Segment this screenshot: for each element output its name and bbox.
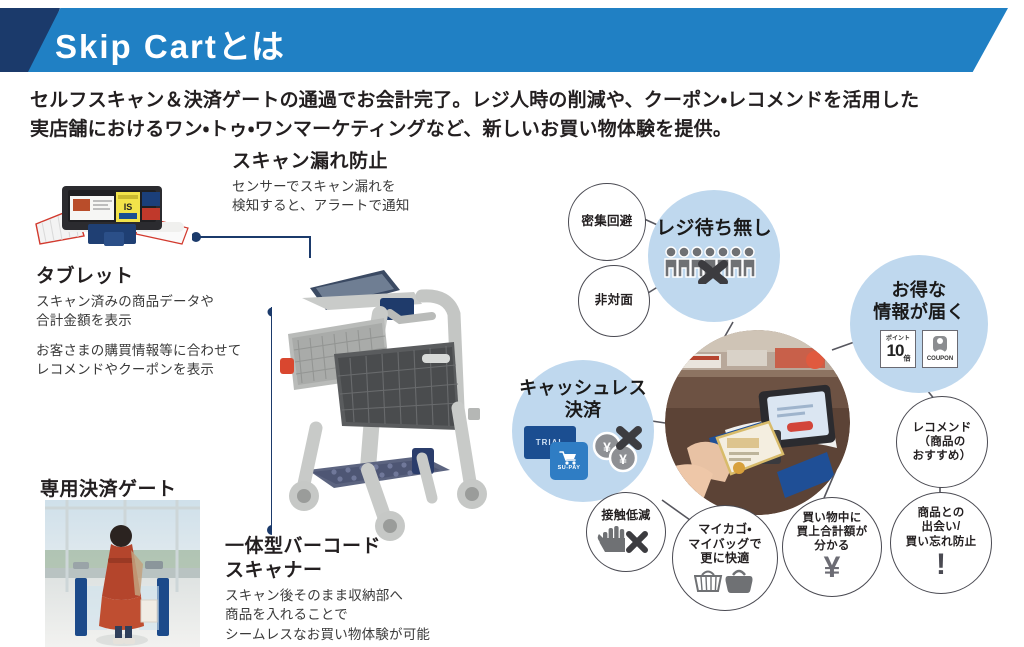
callout-scan-leak: スキャン漏れ防止 センサーでスキャン漏れを 検知すると、アラートで通知 bbox=[232, 150, 472, 216]
coupon-person-glyph bbox=[930, 335, 950, 355]
supay-label: SU-PAY bbox=[558, 465, 581, 471]
scan-leak-body-line1: センサーでスキャン漏れを bbox=[232, 177, 472, 197]
scanner-body-line2: 商品を入れることで bbox=[225, 605, 480, 625]
bubble-deai-kaiwasure[interactable]: 商品との 出会い/ 買い忘れ防止 ! bbox=[890, 492, 992, 594]
basket-icon bbox=[695, 571, 721, 591]
bubble-hitaimen-label: 非対面 bbox=[595, 293, 633, 308]
scanning-photo bbox=[665, 330, 850, 515]
header-banner: Skip Cartとは bbox=[0, 8, 1024, 72]
bubble-recommend-line1: レコメンド bbox=[913, 421, 972, 435]
callout-tablet: タブレット スキャン済みの商品データや 合計金額を表示 お客さまの購買情報等に合… bbox=[36, 265, 286, 380]
eco-bag-icon bbox=[726, 571, 753, 593]
bubble-reji-machi-nashi[interactable]: レジ待ち無し bbox=[648, 190, 780, 322]
smart-cart-photo bbox=[272, 258, 512, 543]
bubble-kaiage-line1: 買い物中に bbox=[797, 511, 868, 525]
bubble-deai-line2: 出会い/ bbox=[906, 520, 977, 534]
bubble-mitsushu-kaihi[interactable]: 密集回避 bbox=[568, 183, 646, 261]
coins-no-cash-icon: ¥ ¥ bbox=[590, 424, 646, 476]
tablet-body-1-line2: 合計金額を表示 bbox=[36, 311, 286, 331]
bubble-cashless[interactable]: キャッシュレス 決済 TRIAL SU-PAY ¥ ¥ bbox=[512, 360, 654, 502]
slide-root: Skip Cartとは セルフスキャン＆決済ゲートの通過でお会計完了。レジ人時の… bbox=[0, 0, 1024, 647]
yen-symbol-icon: ¥ bbox=[824, 553, 841, 583]
scan-leak-body-line2: 検知すると、アラートで通知 bbox=[232, 196, 472, 216]
basket-and-bag-icon bbox=[694, 568, 756, 594]
bubble-otoku-joho-line2: 情報が届く bbox=[873, 302, 965, 324]
bubble-cashless-label: キャッシュレス 決済 bbox=[519, 378, 647, 422]
scanner-title-line1: 一体型バーコード bbox=[225, 535, 480, 559]
bubble-cashless-line1: キャッシュレス bbox=[519, 378, 647, 400]
tablet-body-2-line1: お客さまの購買情報等に合わせて bbox=[36, 341, 286, 361]
exclamation-icon: ! bbox=[936, 550, 946, 580]
queue-people-icon bbox=[662, 244, 766, 289]
lead-line-1: セルフスキャン＆決済ゲートの通過でお会計完了。レジ人時の削減や、クーポン・レコメ… bbox=[30, 86, 990, 115]
bubble-recommend-line3: おすすめ） bbox=[913, 449, 972, 463]
tablet-body-2: お客さまの購買情報等に合わせて レコメンドやクーポンを表示 bbox=[36, 341, 286, 380]
tablet-body-1: スキャン済みの商品データや 合計金額を表示 bbox=[36, 292, 286, 331]
scanner-title-line2: スキャナー bbox=[225, 559, 480, 583]
bubble-recommend-label: レコメンド （商品の おすすめ） bbox=[913, 421, 972, 463]
lead-line-2: 実店舗におけるワン・トゥ・ワンマーケティングなど、新しいお買い物体験を提供。 bbox=[30, 115, 990, 144]
tablet-photo: IS bbox=[32, 178, 192, 250]
bubble-sesshoku-teigen[interactable]: 接触低減 bbox=[586, 492, 666, 572]
bubble-deai-kaiwasure-label: 商品との 出会い/ 買い忘れ防止 bbox=[906, 506, 977, 548]
supay-cart-glyph bbox=[559, 450, 579, 465]
point-badge-unit: 倍 bbox=[903, 355, 909, 362]
gate-title: 専用決済ゲート bbox=[40, 478, 177, 502]
bubble-maikago-line3: 更に快適 bbox=[688, 551, 762, 566]
bubble-kaiage-gokeigaku-label: 買い物中に 買上合計額が 分かる bbox=[797, 511, 868, 553]
scanner-body: スキャン後そのまま収納部へ 商品を入れることで シームレスなお買い物体験が可能 bbox=[225, 586, 480, 645]
coupon-badge-label: COUPON bbox=[927, 356, 953, 362]
bubble-mitsushu-kaihi-label: 密集回避 bbox=[581, 214, 632, 229]
coupon-badge-icon: COUPON bbox=[922, 330, 958, 368]
bubble-otoku-joho[interactable]: お得な 情報が届く ポイント 10倍 COUPON bbox=[850, 255, 988, 393]
bubble-hitaimen[interactable]: 非対面 bbox=[578, 265, 650, 337]
bubble-cashless-line2: 決済 bbox=[519, 400, 647, 422]
scanner-title: 一体型バーコード スキャナー bbox=[225, 535, 480, 583]
bubble-deai-line1: 商品との bbox=[906, 506, 977, 520]
bubble-recommend[interactable]: レコメンド （商品の おすすめ） bbox=[896, 396, 988, 488]
scan-leak-body: センサーでスキャン漏れを 検知すると、アラートで通知 bbox=[232, 177, 472, 216]
supay-icon: SU-PAY bbox=[550, 442, 588, 480]
bubble-kaiage-gokeigaku[interactable]: 買い物中に 買上合計額が 分かる ¥ bbox=[782, 497, 882, 597]
point-badge-icon: ポイント 10倍 bbox=[880, 330, 916, 368]
callout-scanner: 一体型バーコード スキャナー スキャン後そのまま収納部へ 商品を入れることで シ… bbox=[225, 535, 480, 644]
bubble-deai-line3: 買い忘れ防止 bbox=[906, 535, 977, 549]
svg-text:¥: ¥ bbox=[619, 451, 627, 467]
page-title-jp: とは bbox=[218, 28, 284, 65]
page-title: Skip Cartとは bbox=[55, 20, 284, 68]
tablet-body-2-line2: レコメンドやクーポンを表示 bbox=[36, 360, 286, 380]
tablet-body-1-line1: スキャン済みの商品データや bbox=[36, 292, 286, 312]
bubble-reji-machi-nashi-label: レジ待ち無し bbox=[656, 217, 772, 240]
bubble-sesshoku-teigen-label: 接触低減 bbox=[601, 508, 650, 523]
point-badge-value: 10倍 bbox=[887, 342, 910, 362]
svg-text:IS: IS bbox=[124, 202, 133, 212]
lead-paragraph: セルフスキャン＆決済ゲートの通過でお会計完了。レジ人時の削減や、クーポン・レコメ… bbox=[30, 86, 990, 145]
scanner-body-line3: シームレスなお買い物体験が可能 bbox=[225, 625, 480, 645]
scan-leak-title: スキャン漏れ防止 bbox=[232, 150, 472, 174]
bubble-kaiage-line2: 買上合計額が bbox=[797, 525, 868, 539]
scanner-body-line1: スキャン後そのまま収納部へ bbox=[225, 586, 480, 606]
otoku-icons: ポイント 10倍 COUPON bbox=[880, 330, 958, 368]
page-title-en: Skip Cart bbox=[55, 28, 218, 65]
bubble-maikago-maibag[interactable]: マイカゴ・ マイバッグで 更に快適 bbox=[672, 505, 778, 611]
bubble-otoku-joho-line1: お得な bbox=[873, 280, 965, 302]
bubble-maikago-line1: マイカゴ・ bbox=[688, 522, 762, 537]
tablet-title: タブレット bbox=[36, 265, 286, 289]
bubble-otoku-joho-label: お得な 情報が届く bbox=[873, 280, 965, 324]
payment-gate-photo bbox=[45, 500, 200, 647]
bubble-maikago-line2: マイバッグで bbox=[688, 537, 762, 552]
bubble-recommend-line2: （商品の bbox=[913, 435, 972, 449]
hand-no-touch-icon bbox=[597, 524, 655, 554]
bubble-maikago-maibag-label: マイカゴ・ マイバッグで 更に快適 bbox=[688, 522, 762, 566]
cashless-icons: TRIAL SU-PAY ¥ ¥ bbox=[518, 422, 648, 480]
